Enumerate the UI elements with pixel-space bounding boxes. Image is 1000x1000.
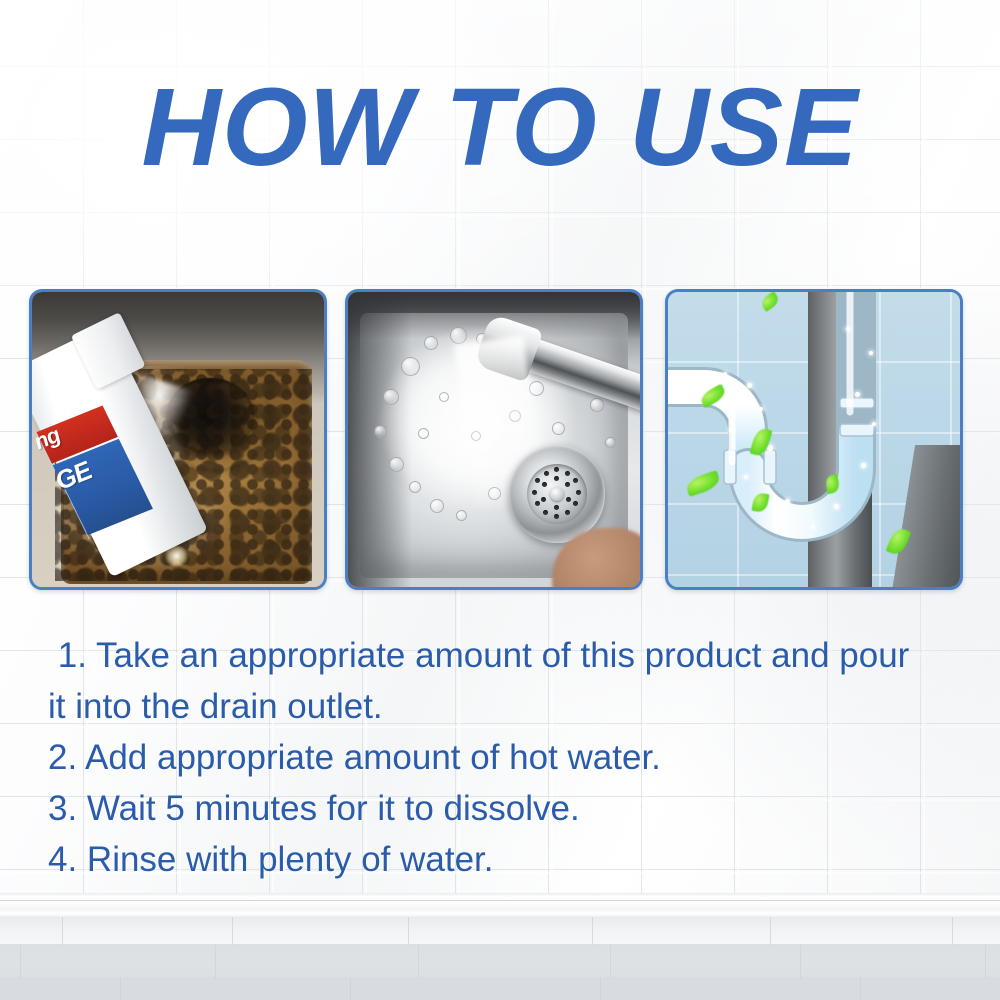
strainer-hole	[554, 505, 559, 510]
strainer-hole	[554, 476, 559, 481]
bubble	[430, 499, 444, 513]
bubble	[401, 357, 420, 376]
strainer-hole	[566, 497, 571, 502]
strainer-hole	[573, 478, 578, 483]
strainer-hole	[573, 501, 578, 506]
sparkle	[744, 475, 748, 479]
step-line-3: 3. Wait 5 minutes for it to dissolve.	[48, 783, 976, 834]
strainer-center-hub	[550, 487, 564, 501]
sparkle	[861, 463, 866, 468]
bubble	[605, 437, 616, 448]
sink-drain-strainer	[509, 445, 605, 542]
bubble	[439, 392, 449, 402]
step-line-1-cont: it into the drain outlet.	[48, 681, 976, 732]
bubble	[389, 457, 404, 472]
strainer-hole	[565, 471, 570, 476]
strainer-hole	[565, 482, 570, 487]
step-image-rinse-with-water	[345, 289, 643, 590]
strainer-hole	[576, 490, 581, 495]
strainer-hole	[543, 510, 548, 515]
sparkle	[785, 499, 790, 504]
sparkle	[759, 407, 763, 411]
strainer-hole	[565, 510, 570, 515]
instruction-steps: 1. Take an appropriate amount of this pr…	[48, 630, 976, 885]
step-image-clean-pipe-illustration	[665, 289, 963, 590]
bubble	[418, 428, 429, 439]
step-image-pour-product: ng GE	[29, 289, 327, 590]
bubble	[374, 425, 387, 438]
step-line-2: 2. Add appropriate amount of hot water.	[48, 732, 976, 783]
strainer-hole	[554, 467, 559, 472]
strainer-hole	[554, 514, 559, 519]
strainer-hole	[532, 490, 537, 495]
strainer-hole	[535, 501, 540, 506]
strainer-hole	[544, 471, 549, 476]
strainer-hole	[535, 478, 540, 483]
strainer-hole	[542, 482, 547, 487]
step-line-1: 1. Take an appropriate amount of this pr…	[48, 630, 976, 681]
strainer-hole	[541, 497, 546, 502]
strainer-plate	[527, 464, 587, 524]
step-line-4: 4. Rinse with plenty of water.	[48, 834, 976, 885]
s-trap-pipe-drawing	[668, 292, 960, 587]
how-to-use-poster: HOW TO USE ng	[0, 0, 1000, 1000]
